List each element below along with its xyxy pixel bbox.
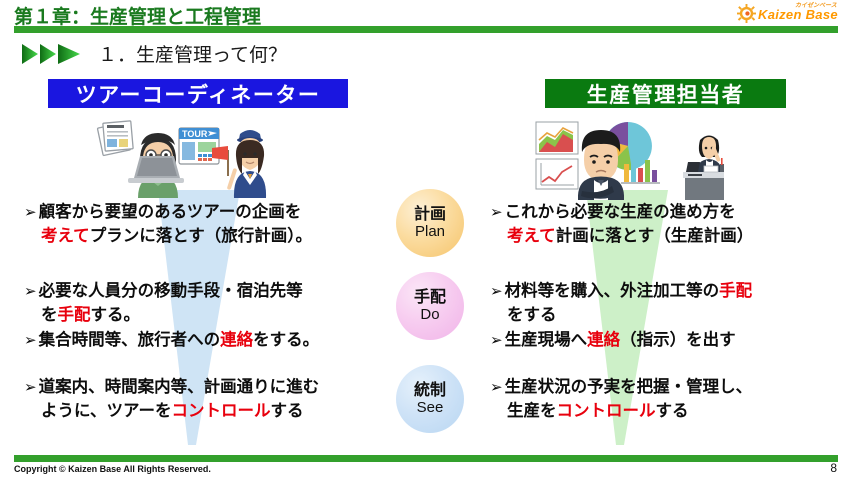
bullet-text: 道案内、時間案内等、計画通りに進む [39, 378, 320, 396]
bullet-marker-icon: ➢ [490, 204, 503, 221]
bullet-text-emphasis: コントロール [172, 402, 271, 420]
logo-wordmark: Kaizen Base [758, 7, 838, 22]
man-arms-crossed-icon [578, 130, 624, 200]
circle-plan: 計画 Plan [396, 189, 464, 257]
area-chart-icon [536, 122, 578, 154]
documents-icon [97, 121, 133, 156]
bullet-line: ➢道案内、時間案内等、計画通りに進む [24, 375, 319, 399]
left-bullet-group-do: ➢必要な人員分の移動手段・宿泊先等を手配する。➢集合時間等、旅行者への連絡をする… [24, 279, 319, 352]
bullet-text: を [41, 306, 58, 324]
bullet-text: をする。 [253, 331, 319, 349]
tour-guide-woman-icon [212, 130, 266, 198]
bullet-text-emphasis: 連絡 [220, 331, 253, 349]
bullet-marker-icon: ➢ [24, 204, 37, 221]
tour-coordinator-illustration: TOUR [88, 112, 268, 198]
section-heading: １．生産管理って何？ [98, 40, 287, 67]
bullet-marker-icon: ➢ [490, 379, 503, 396]
bullet-line: ➢これから必要な生産の進め方を [490, 200, 753, 224]
header-rule [28, 26, 838, 33]
bullet-text: 必要な人員分の移動手段・宿泊先等 [39, 282, 303, 300]
footer-rule [14, 455, 838, 462]
bullet-text: する [656, 402, 689, 420]
right-bullet-group-do: ➢材料等を購入、外注加工等の手配をする➢生産現場へ連絡（指示）を出す [490, 279, 752, 352]
bullet-line: ➢生産現場へ連絡（指示）を出す [490, 328, 752, 352]
circle-see-jp: 統制 [414, 382, 446, 400]
right-bullet-group-plan: ➢これから必要な生産の進め方を考えて計画に落とす（生産計画） [490, 200, 753, 249]
bullet-line: ように、ツアーをコントロールする [24, 399, 319, 423]
bullet-text: 集合時間等、旅行者への [39, 331, 221, 349]
bullet-line: を手配する。 [24, 303, 319, 327]
bullet-text-emphasis: コントロール [557, 402, 656, 420]
left-bullet-group-plan: ➢顧客から要望のあるツアーの企画を考えてプランに落とす（旅行計画）。 [24, 200, 312, 249]
bullet-text: プランに落とす（旅行計画）。 [90, 227, 312, 245]
tour-sign-icon: TOUR [179, 128, 219, 164]
bullet-line: ➢生産状況の予実を把握・管理し、 [490, 375, 752, 399]
chapter-title: 第１章：生産管理と工程管理 [14, 2, 261, 29]
bullet-text-emphasis: 連絡 [587, 331, 620, 349]
circle-do-en: Do [420, 307, 439, 324]
circle-do: 手配 Do [396, 272, 464, 340]
bullet-text: する。 [91, 306, 141, 324]
role-banner-tour-coordinator: ツアーコーディネーター [48, 79, 348, 108]
bullet-marker-icon: ➢ [24, 379, 37, 396]
bullet-text: 生産状況の予実を把握・管理し、 [505, 378, 753, 396]
circle-see-en: See [417, 400, 444, 417]
bullet-text: 材料等を購入、外注加工等の [505, 282, 720, 300]
bullet-line: 考えて計画に落とす（生産計画） [490, 224, 753, 248]
man-at-desk-icon [683, 136, 724, 201]
bullet-line: ➢集合時間等、旅行者への連絡をする。 [24, 328, 319, 352]
line-chart-icon [536, 159, 578, 189]
bullet-text: 生産を [507, 402, 557, 420]
bullet-marker-icon: ➢ [490, 283, 503, 300]
bullet-text: 計画に落とす（生産計画） [556, 227, 754, 245]
bullet-line: 考えてプランに落とす（旅行計画）。 [24, 224, 312, 248]
bullet-text: する [271, 402, 304, 420]
bullet-text: これから必要な生産の進め方を [505, 203, 736, 221]
bullet-line: をする [490, 303, 752, 327]
bullet-text-emphasis: 手配 [58, 306, 91, 324]
bullet-line: 生産をコントロールする [490, 399, 752, 423]
role-banner-production-manager: 生産管理担当者 [545, 79, 786, 108]
bullet-text-emphasis: 考えて [41, 227, 90, 245]
circle-do-jp: 手配 [414, 289, 446, 307]
triple-chevron-right-icon [22, 43, 94, 65]
copyright-text: Copyright © Kaizen Base All Rights Reser… [14, 464, 211, 474]
bullet-marker-icon: ➢ [24, 283, 37, 300]
kaizen-base-logo: カイゼンベース Kaizen Base [737, 1, 845, 25]
bullet-text: をする [507, 306, 557, 324]
bullet-line: ➢材料等を購入、外注加工等の手配 [490, 279, 752, 303]
bullet-line: ➢顧客から要望のあるツアーの企画を [24, 200, 312, 224]
circle-see: 統制 See [396, 365, 464, 433]
bullet-text: 生産現場へ [505, 331, 588, 349]
svg-text:TOUR: TOUR [182, 129, 208, 139]
page-number: 8 [830, 461, 837, 475]
circle-plan-en: Plan [415, 224, 445, 241]
bullet-line: ➢必要な人員分の移動手段・宿泊先等 [24, 279, 319, 303]
bullet-text: （指示）を出す [620, 331, 736, 349]
bullet-marker-icon: ➢ [490, 332, 503, 349]
man-with-laptop-icon [128, 133, 184, 198]
bullet-text: ように、ツアーを [41, 402, 172, 420]
gear-sun-icon [737, 4, 756, 23]
bullet-text-emphasis: 手配 [719, 282, 752, 300]
bullet-marker-icon: ➢ [24, 332, 37, 349]
slide-canvas: 第１章：生産管理と工程管理 カイゼンベース Kaizen [0, 0, 853, 480]
circle-plan-jp: 計画 [414, 206, 446, 224]
right-bullet-group-see: ➢生産状況の予実を把握・管理し、生産をコントロールする [490, 375, 752, 424]
bullet-text-emphasis: 考えて [507, 227, 556, 245]
bullet-text: 顧客から要望のあるツアーの企画を [39, 203, 302, 221]
left-bullet-group-see: ➢道案内、時間案内等、計画通りに進むように、ツアーをコントロールする [24, 375, 319, 424]
production-manager-illustration [528, 112, 724, 200]
